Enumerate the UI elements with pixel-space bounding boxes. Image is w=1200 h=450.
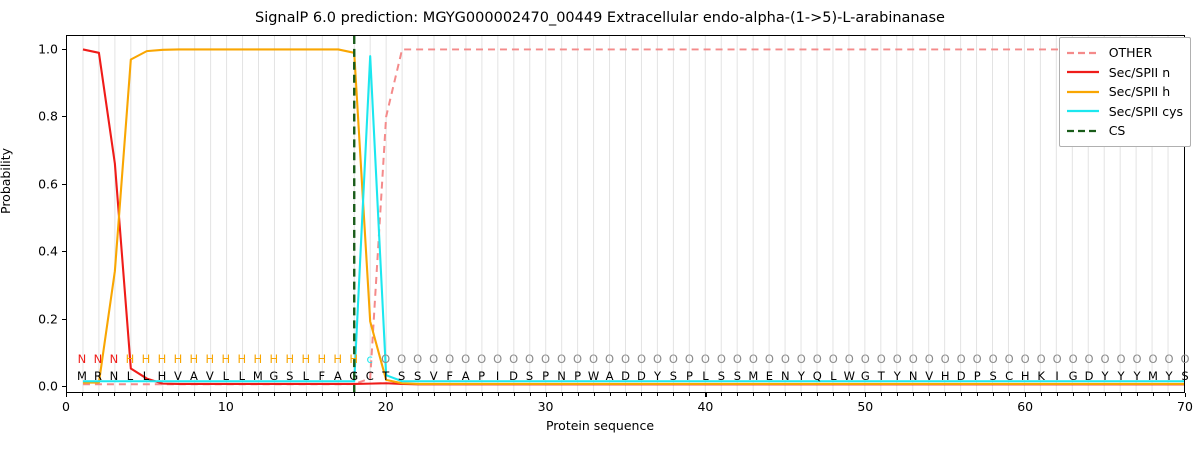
sequence-residue: A xyxy=(606,369,614,383)
region-label: H xyxy=(190,352,199,366)
sequence-residue: K xyxy=(1037,369,1045,383)
x-tick-minor xyxy=(849,393,850,396)
region-label: O xyxy=(765,352,774,366)
region-label: O xyxy=(509,352,518,366)
legend: OTHERSec/SPII nSec/SPII hSec/SPII cysCS xyxy=(1059,37,1191,147)
region-label: O xyxy=(733,352,742,366)
sequence-residue: S xyxy=(1181,369,1188,383)
region-label: O xyxy=(589,352,598,366)
region-label: O xyxy=(429,352,438,366)
sequence-residue: W xyxy=(588,369,599,383)
legend-item[interactable]: Sec/SPII h xyxy=(1066,82,1183,102)
y-tick-label: 0.8 xyxy=(38,109,58,124)
x-tick-label: 70 xyxy=(1177,399,1193,414)
sequence-residue: T xyxy=(878,369,885,383)
x-tick-minor xyxy=(641,393,642,396)
sequence-residue: S xyxy=(718,369,725,383)
region-label: O xyxy=(637,352,646,366)
region-label: O xyxy=(861,352,870,366)
region-label: O xyxy=(1133,352,1142,366)
y-tick-mark xyxy=(62,319,66,320)
sequence-residue: V xyxy=(925,369,933,383)
region-label: H xyxy=(158,352,167,366)
sequence-residue: G xyxy=(861,369,870,383)
x-tick-mark xyxy=(226,393,227,397)
x-tick-label: 50 xyxy=(857,399,873,414)
y-axis-label: Probability xyxy=(0,148,13,214)
x-tick-mark xyxy=(1185,393,1186,397)
x-tick-minor xyxy=(897,393,898,396)
x-tick-minor xyxy=(961,393,962,396)
sequence-residue: I xyxy=(1055,369,1058,383)
legend-item[interactable]: Sec/SPII cys xyxy=(1066,102,1183,122)
region-label: H xyxy=(142,352,151,366)
sequence-residue: M xyxy=(253,369,263,383)
sequence-residue: G xyxy=(1069,369,1078,383)
region-label: O xyxy=(669,352,678,366)
x-tick-minor xyxy=(130,393,131,396)
x-tick-minor xyxy=(913,393,914,396)
sequence-residue: V xyxy=(206,369,214,383)
sequence-residue: Y xyxy=(1134,369,1141,383)
x-tick-minor xyxy=(562,393,563,396)
x-tick-minor xyxy=(450,393,451,396)
y-tick-mark xyxy=(62,386,66,387)
y-tick-label: 0.6 xyxy=(38,176,58,191)
x-tick-minor xyxy=(801,393,802,396)
sequence-residue: L xyxy=(830,369,836,383)
region-label: O xyxy=(605,352,614,366)
region-label: H xyxy=(301,352,310,366)
x-tick-minor xyxy=(210,393,211,396)
x-tick-minor xyxy=(737,393,738,396)
x-tick-minor xyxy=(785,393,786,396)
x-tick-minor xyxy=(194,393,195,396)
x-tick-minor xyxy=(402,393,403,396)
legend-item[interactable]: OTHER xyxy=(1066,43,1183,63)
x-tick-minor xyxy=(1073,393,1074,396)
region-label: O xyxy=(749,352,758,366)
x-tick-minor xyxy=(338,393,339,396)
legend-swatch xyxy=(1066,47,1100,59)
sequence-residue: D xyxy=(1085,369,1094,383)
region-label: O xyxy=(957,352,966,366)
region-label: O xyxy=(445,352,454,366)
region-label: O xyxy=(653,352,662,366)
sequence-residue: D xyxy=(509,369,518,383)
region-label: O xyxy=(797,352,806,366)
region-label: O xyxy=(1117,352,1126,366)
region-label: H xyxy=(238,352,247,366)
sequence-residue: S xyxy=(398,369,405,383)
sequence-residue: V xyxy=(174,369,182,383)
chart-title: SignalP 6.0 prediction: MGYG000002470_00… xyxy=(0,10,1200,26)
legend-label: Sec/SPII h xyxy=(1109,84,1170,99)
legend-swatch xyxy=(1066,86,1100,98)
sequence-residue: L xyxy=(239,369,245,383)
legend-label: Sec/SPII n xyxy=(1109,65,1170,80)
sequence-residue: D xyxy=(957,369,966,383)
y-tick-mark xyxy=(62,116,66,117)
x-tick-minor xyxy=(657,393,658,396)
x-tick-minor xyxy=(1041,393,1042,396)
y-tick-label: 0.0 xyxy=(38,379,58,394)
region-label: O xyxy=(1053,352,1062,366)
sequence-residue: D xyxy=(621,369,630,383)
x-tick-mark xyxy=(386,393,387,397)
sequence-residue: M xyxy=(1148,369,1158,383)
sequence-residue: Y xyxy=(1165,369,1172,383)
x-tick-minor xyxy=(1089,393,1090,396)
region-label: H xyxy=(333,352,342,366)
region-label: O xyxy=(1005,352,1014,366)
region-label: O xyxy=(829,352,838,366)
sequence-residue: A xyxy=(334,369,342,383)
region-label: H xyxy=(349,352,358,366)
sequence-residue: L xyxy=(702,369,708,383)
region-label: O xyxy=(909,352,918,366)
sequence-residue: P xyxy=(478,369,485,383)
x-tick-minor xyxy=(354,393,355,396)
x-tick-minor xyxy=(1153,393,1154,396)
sequence-residue: P xyxy=(574,369,581,383)
x-tick-label: 10 xyxy=(218,399,234,414)
sequence-residue: L xyxy=(223,369,229,383)
sequence-residue: N xyxy=(781,369,790,383)
region-label: O xyxy=(1148,352,1157,366)
region-label: H xyxy=(254,352,263,366)
sequence-residue: S xyxy=(670,369,677,383)
x-tick-minor xyxy=(881,393,882,396)
region-label: N xyxy=(110,352,119,366)
x-tick-mark xyxy=(66,393,67,397)
x-tick-minor xyxy=(306,393,307,396)
x-tick-minor xyxy=(721,393,722,396)
sequence-residue: N xyxy=(557,369,566,383)
region-label: O xyxy=(845,352,854,366)
x-tick-minor xyxy=(673,393,674,396)
legend-swatch xyxy=(1066,125,1100,137)
x-tick-minor xyxy=(514,393,515,396)
x-tick-minor xyxy=(370,393,371,396)
region-label: H xyxy=(206,352,215,366)
x-tick-minor xyxy=(146,393,147,396)
sequence-residue: Y xyxy=(654,369,661,383)
region-label: H xyxy=(222,352,231,366)
region-label: H xyxy=(317,352,326,366)
sequence-residue: M xyxy=(748,369,758,383)
x-tick-mark xyxy=(1025,393,1026,397)
region-label: O xyxy=(477,352,486,366)
sequence-residue: C xyxy=(366,369,374,383)
region-label: H xyxy=(174,352,183,366)
x-tick-label: 30 xyxy=(538,399,554,414)
region-label: O xyxy=(461,352,470,366)
x-tick-label: 60 xyxy=(1017,399,1033,414)
y-tick-label: 0.4 xyxy=(38,244,58,259)
region-label: c xyxy=(367,352,373,366)
y-tick-label: 1.0 xyxy=(38,41,58,56)
legend-label: Sec/SPII cys xyxy=(1109,104,1183,119)
x-tick-minor xyxy=(1009,393,1010,396)
region-label: H xyxy=(269,352,278,366)
x-tick-minor xyxy=(610,393,611,396)
sequence-residue: P xyxy=(686,369,693,383)
sequence-residue: H xyxy=(941,369,950,383)
sequence-residue: I xyxy=(496,369,499,383)
x-tick-minor xyxy=(274,393,275,396)
x-tick-minor xyxy=(242,393,243,396)
x-tick-minor xyxy=(1105,393,1106,396)
region-label: O xyxy=(493,352,502,366)
x-tick-minor xyxy=(929,393,930,396)
sequence-residue: S xyxy=(286,369,293,383)
sequence-residue: D xyxy=(637,369,646,383)
x-tick-minor xyxy=(993,393,994,396)
region-label: O xyxy=(1085,352,1094,366)
x-axis-label: Protein sequence xyxy=(0,418,1200,433)
sequence-residue: F xyxy=(446,369,453,383)
x-tick-minor xyxy=(945,393,946,396)
x-tick-minor xyxy=(753,393,754,396)
sequence-residue: S xyxy=(734,369,741,383)
region-label: H xyxy=(126,352,135,366)
sequence-residue: W xyxy=(844,369,855,383)
sequence-residue: Y xyxy=(798,369,805,383)
x-tick-minor xyxy=(466,393,467,396)
region-label: O xyxy=(1164,352,1173,366)
sequence-residue: M xyxy=(77,369,87,383)
legend-label: CS xyxy=(1109,123,1126,138)
legend-swatch xyxy=(1066,105,1100,117)
x-tick-minor xyxy=(82,393,83,396)
region-label: O xyxy=(1069,352,1078,366)
region-label: O xyxy=(781,352,790,366)
sequence-residue: E xyxy=(766,369,773,383)
sequence-residue: R xyxy=(94,369,102,383)
sequence-residue: V xyxy=(430,369,438,383)
x-tick-mark xyxy=(865,393,866,397)
x-tick-minor xyxy=(434,393,435,396)
legend-item[interactable]: CS xyxy=(1066,121,1183,141)
legend-swatch xyxy=(1066,66,1100,78)
x-tick-mark xyxy=(546,393,547,397)
x-tick-minor xyxy=(594,393,595,396)
sequence-residue: L xyxy=(303,369,309,383)
sequence-residue: S xyxy=(414,369,421,383)
x-tick-minor xyxy=(162,393,163,396)
sequence-residue: G xyxy=(269,369,278,383)
sequence-residue: C xyxy=(1005,369,1013,383)
y-tick-mark xyxy=(62,251,66,252)
region-label: O xyxy=(573,352,582,366)
x-tick-minor xyxy=(482,393,483,396)
region-label: O xyxy=(525,352,534,366)
region-label: O xyxy=(1021,352,1030,366)
sequence-residue: Y xyxy=(894,369,901,383)
region-label: O xyxy=(877,352,886,366)
sequence-residue: F xyxy=(318,369,325,383)
x-tick-minor xyxy=(1169,393,1170,396)
sequence-residue: H xyxy=(158,369,167,383)
x-tick-minor xyxy=(290,393,291,396)
sequence-residue: P xyxy=(542,369,549,383)
sequence-residue: A xyxy=(462,369,470,383)
region-label: O xyxy=(973,352,982,366)
sequence-residue: T xyxy=(382,369,389,383)
x-tick-minor xyxy=(1121,393,1122,396)
x-tick-label: 0 xyxy=(62,399,70,414)
sequence-residue: G xyxy=(349,369,358,383)
region-label: H xyxy=(285,352,294,366)
x-tick-minor xyxy=(977,393,978,396)
region-label: O xyxy=(413,352,422,366)
sequence-residue: H xyxy=(1021,369,1030,383)
x-tick-minor xyxy=(178,393,179,396)
legend-label: OTHER xyxy=(1109,45,1152,60)
region-label: O xyxy=(685,352,694,366)
x-tick-minor xyxy=(817,393,818,396)
region-label: O xyxy=(621,352,630,366)
region-label: O xyxy=(541,352,550,366)
region-label: O xyxy=(813,352,822,366)
region-label: O xyxy=(557,352,566,366)
region-label: O xyxy=(381,352,390,366)
region-label: O xyxy=(893,352,902,366)
legend-item[interactable]: Sec/SPII n xyxy=(1066,63,1183,83)
x-tick-minor xyxy=(689,393,690,396)
sequence-residue: S xyxy=(526,369,533,383)
y-tick-mark xyxy=(62,184,66,185)
x-tick-minor xyxy=(114,393,115,396)
sequence-residue: Q xyxy=(813,369,822,383)
sequence-residue: L xyxy=(127,369,133,383)
sequence-residue: S xyxy=(990,369,997,383)
x-tick-minor xyxy=(418,393,419,396)
region-label: O xyxy=(701,352,710,366)
region-label: O xyxy=(1101,352,1110,366)
region-label: O xyxy=(397,352,406,366)
region-label: O xyxy=(941,352,950,366)
region-label: O xyxy=(1037,352,1046,366)
x-tick-label: 40 xyxy=(697,399,713,414)
signalp-figure: SignalP 6.0 prediction: MGYG000002470_00… xyxy=(0,0,1200,450)
region-label: N xyxy=(78,352,87,366)
sequence-residue: N xyxy=(909,369,918,383)
cleavage-site-line xyxy=(67,36,1184,392)
region-label: O xyxy=(1180,352,1189,366)
sequence-residue: Y xyxy=(1102,369,1109,383)
x-tick-minor xyxy=(322,393,323,396)
y-tick-mark xyxy=(62,49,66,50)
region-label: O xyxy=(717,352,726,366)
x-tick-minor xyxy=(530,393,531,396)
region-label: O xyxy=(989,352,998,366)
region-label: O xyxy=(925,352,934,366)
x-tick-minor xyxy=(98,393,99,396)
x-tick-minor xyxy=(258,393,259,396)
plot-area xyxy=(66,35,1185,393)
sequence-residue: A xyxy=(190,369,198,383)
x-tick-minor xyxy=(498,393,499,396)
x-tick-minor xyxy=(1057,393,1058,396)
sequence-residue: L xyxy=(143,369,149,383)
sequence-residue: N xyxy=(110,369,119,383)
x-tick-minor xyxy=(769,393,770,396)
sequence-residue: Y xyxy=(1118,369,1125,383)
x-tick-label: 20 xyxy=(378,399,394,414)
region-label: N xyxy=(94,352,103,366)
x-tick-mark xyxy=(705,393,706,397)
x-tick-minor xyxy=(833,393,834,396)
sequence-residue: P xyxy=(974,369,981,383)
x-tick-minor xyxy=(578,393,579,396)
y-tick-label: 0.2 xyxy=(38,311,58,326)
x-tick-minor xyxy=(626,393,627,396)
x-tick-minor xyxy=(1137,393,1138,396)
